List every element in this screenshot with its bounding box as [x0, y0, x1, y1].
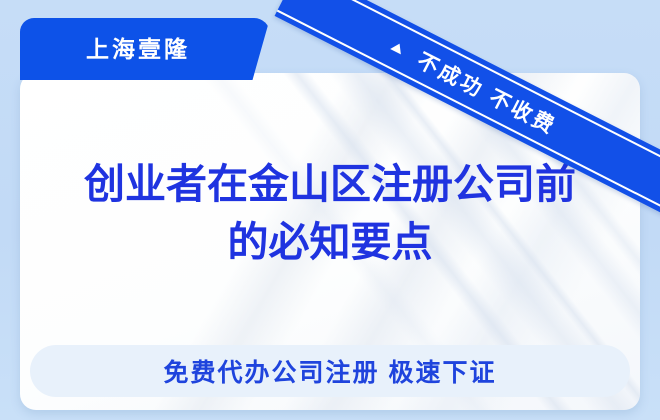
page-title: 创业者在金山区注册公司前 的必知要点	[20, 155, 640, 271]
page-title-line-1: 创业者在金山区注册公司前	[20, 155, 640, 213]
brand-tab-label: 上海壹隆	[86, 38, 190, 61]
cta-bar-label: 免费代办公司注册 极速下证	[164, 353, 497, 389]
brand-tab-content: 上海壹隆	[20, 18, 270, 80]
promo-poster: 上海壹隆 不成功 不收费 创业者在金山区注册公司前 的必知要点 免费代办公司注册…	[0, 0, 660, 420]
page-title-line-2: 的必知要点	[20, 213, 640, 271]
cta-bar[interactable]: 免费代办公司注册 极速下证	[30, 345, 630, 397]
